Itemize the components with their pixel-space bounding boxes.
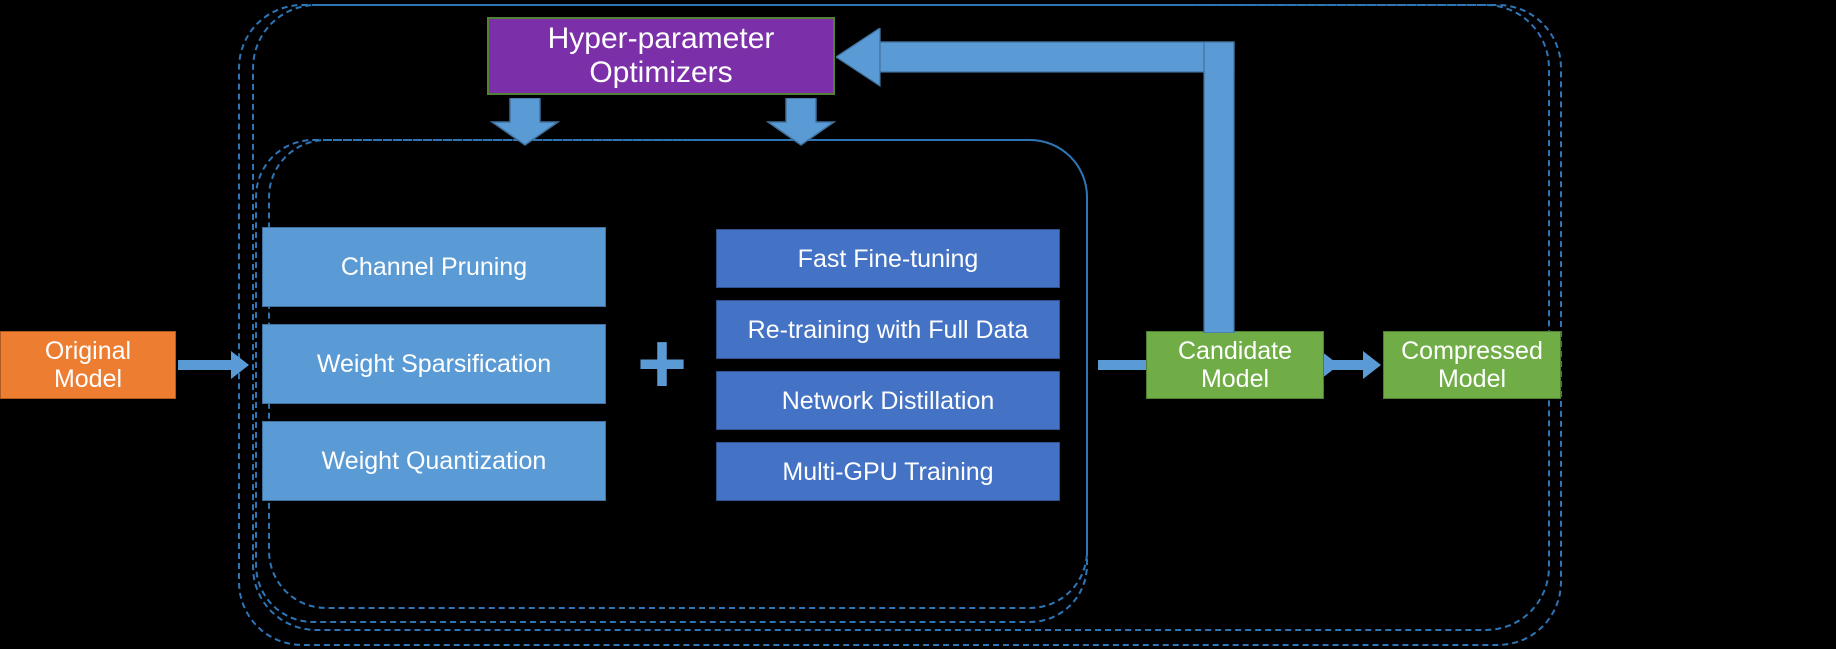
feedback-arrow-icon: [836, 28, 1256, 333]
original-model-line2: Model: [54, 365, 122, 393]
method-box-multi-gpu-training[interactable]: Multi-GPU Training: [716, 442, 1060, 501]
method-box-weight-quantization[interactable]: Weight Quantization: [262, 421, 606, 501]
method-label: Weight Quantization: [322, 447, 547, 475]
compressed-model-box[interactable]: Compressed Model: [1383, 331, 1561, 399]
optimizer-title-line1: Hyper-parameter: [548, 22, 775, 56]
optimizer-title-line2: Optimizers: [589, 56, 732, 90]
optimizer-to-compression-arrow-down: [490, 98, 560, 146]
diagram-canvas: Hyper-parameter Optimizers Channel Pruni…: [0, 0, 1836, 649]
candidate-model-box[interactable]: Candidate Model: [1146, 331, 1324, 399]
method-label: Weight Sparsification: [317, 350, 551, 378]
optimizer-to-training-arrow-down: [766, 98, 836, 146]
compressed-model-line1: Compressed: [1401, 337, 1543, 365]
candidate-model-line1: Candidate: [1178, 337, 1292, 365]
hyper-parameter-optimizers-box[interactable]: Hyper-parameter Optimizers: [487, 17, 835, 95]
method-label: Multi-GPU Training: [782, 458, 993, 486]
arrow-down-icon: [490, 98, 560, 146]
feedback-arrow-candidate-to-optimizer: [836, 28, 1256, 333]
method-box-network-distillation[interactable]: Network Distillation: [716, 371, 1060, 430]
method-box-weight-sparsification[interactable]: Weight Sparsification: [262, 324, 606, 404]
plus-operator: +: [630, 320, 694, 408]
method-label: Channel Pruning: [341, 253, 527, 281]
method-box-channel-pruning[interactable]: Channel Pruning: [262, 227, 606, 307]
plus-symbol: +: [637, 321, 687, 407]
arrow-candidate-to-compressed: [1326, 360, 1364, 370]
method-label: Network Distillation: [782, 387, 995, 415]
candidate-model-line2: Model: [1201, 365, 1269, 393]
original-model-box[interactable]: Original Model: [0, 331, 176, 399]
compressed-model-line2: Model: [1438, 365, 1506, 393]
original-model-line1: Original: [45, 337, 131, 365]
arrow-original-to-process: [178, 360, 232, 370]
arrow-down-icon: [766, 98, 836, 146]
